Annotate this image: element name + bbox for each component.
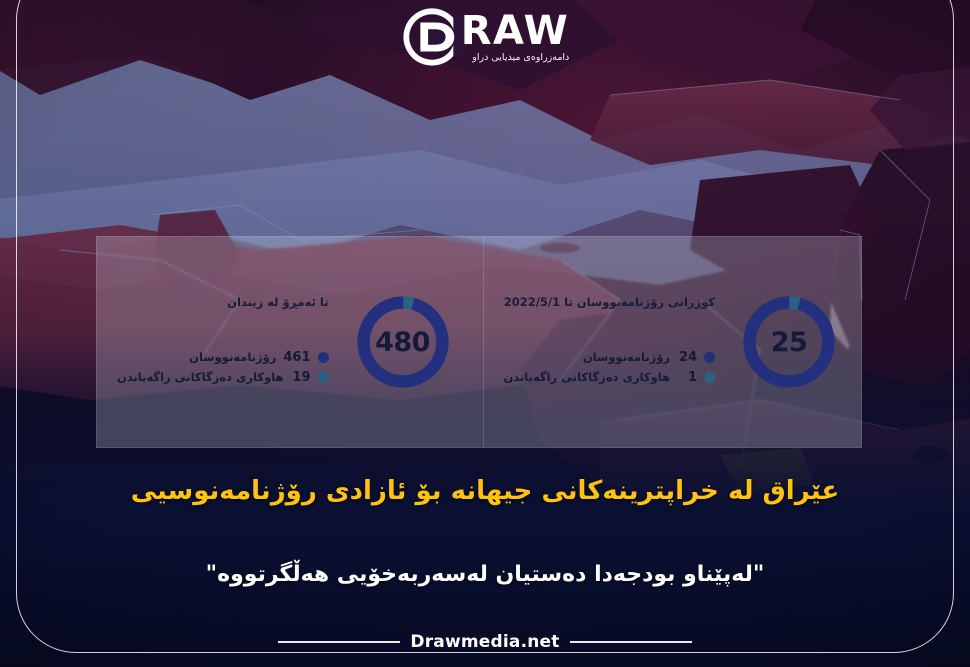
- footer-rule-left: [278, 641, 400, 643]
- stat-caption-imprisoned: تا ئەمڕۆ لە زیندان: [117, 294, 329, 310]
- legend-item: 1 هاوکاری دەزگاکانی راگەیاندن: [504, 370, 716, 385]
- legend-color-dot-icon: [704, 372, 715, 383]
- legend-color-dot-icon: [318, 352, 329, 363]
- caption-date: 2022/5/1: [504, 295, 560, 309]
- legend-label: رۆژنامەنووسان: [583, 350, 670, 364]
- legend-value: 24: [677, 350, 697, 365]
- donut-chart-killed: 25: [723, 290, 855, 394]
- legend-label: هاوکاری دەزگاکانی راگەیاندن: [504, 370, 671, 384]
- legend-item: 19 هاوکاری دەزگاکانی راگەیاندن: [117, 370, 329, 385]
- stat-caption-killed: کوژرانی رۆژنامەنووسان تا 2022/5/1: [504, 294, 716, 310]
- footer-rule-right: [570, 641, 692, 643]
- legend-color-dot-icon: [318, 372, 329, 383]
- legend-label: رۆژنامەنووسان: [189, 350, 276, 364]
- donut-total-value: 25: [737, 290, 841, 394]
- statistics-panel: 480 تا ئەمڕۆ لە زیندان 461 رۆژنامەنووسان: [96, 236, 862, 448]
- legend-value: 19: [291, 370, 311, 385]
- caption-text: تا ئەمڕۆ لە زیندان: [227, 295, 328, 309]
- stat-card-killed-journalists: 25 کوژرانی رۆژنامەنووسان تا 2022/5/1 24 …: [484, 237, 870, 447]
- stat-info-imprisoned: تا ئەمڕۆ لە زیندان 461 رۆژنامەنووسان 19 …: [111, 294, 337, 389]
- legend-item: 461 رۆژنامەنووسان: [117, 350, 329, 365]
- stat-card-imprisoned-today: 480 تا ئەمڕۆ لە زیندان 461 رۆژنامەنووسان: [97, 237, 484, 447]
- legend-color-dot-icon: [704, 352, 715, 363]
- legend-killed: 24 رۆژنامەنووسان 1 هاوکاری دەزگاکانی راگ…: [504, 345, 716, 390]
- legend-value: 461: [283, 350, 310, 365]
- donut-total-value: 480: [351, 290, 455, 394]
- legend-value: 1: [677, 370, 697, 385]
- legend-imprisoned: 461 رۆژنامەنووسان 19 هاوکاری دەزگاکانی ر…: [117, 345, 329, 390]
- headline-secondary-quote: "لەپێناو بودجەدا دەستیان لەسەربەخۆیی هەڵ…: [60, 560, 910, 590]
- draw-d-monogram-icon: [401, 6, 463, 68]
- footer-site-name: Drawmedia.net: [400, 632, 569, 652]
- caption-text: کوژرانی رۆژنامەنووسان تا: [564, 295, 715, 309]
- donut-chart-imprisoned: 480: [337, 290, 469, 394]
- logo-subtitle: دامەزراوەی میدیایی دراو: [472, 52, 569, 63]
- logo-wordmark: RAW: [461, 12, 570, 50]
- headline-primary: عێراق لە خراپترینەکانی جیهانە بۆ ئازادی …: [40, 474, 930, 509]
- stat-info-killed: کوژرانی رۆژنامەنووسان تا 2022/5/1 24 رۆژ…: [498, 294, 724, 389]
- legend-label: هاوکاری دەزگاکانی راگەیاندن: [117, 370, 284, 384]
- infographic-poster: RAW دامەزراوەی میدیایی دراو 480 تا ئەمڕۆ…: [0, 0, 970, 667]
- legend-item: 24 رۆژنامەنووسان: [504, 350, 716, 365]
- brand-logo: RAW دامەزراوەی میدیایی دراو: [0, 6, 970, 68]
- footer-credit: Drawmedia.net: [0, 632, 970, 652]
